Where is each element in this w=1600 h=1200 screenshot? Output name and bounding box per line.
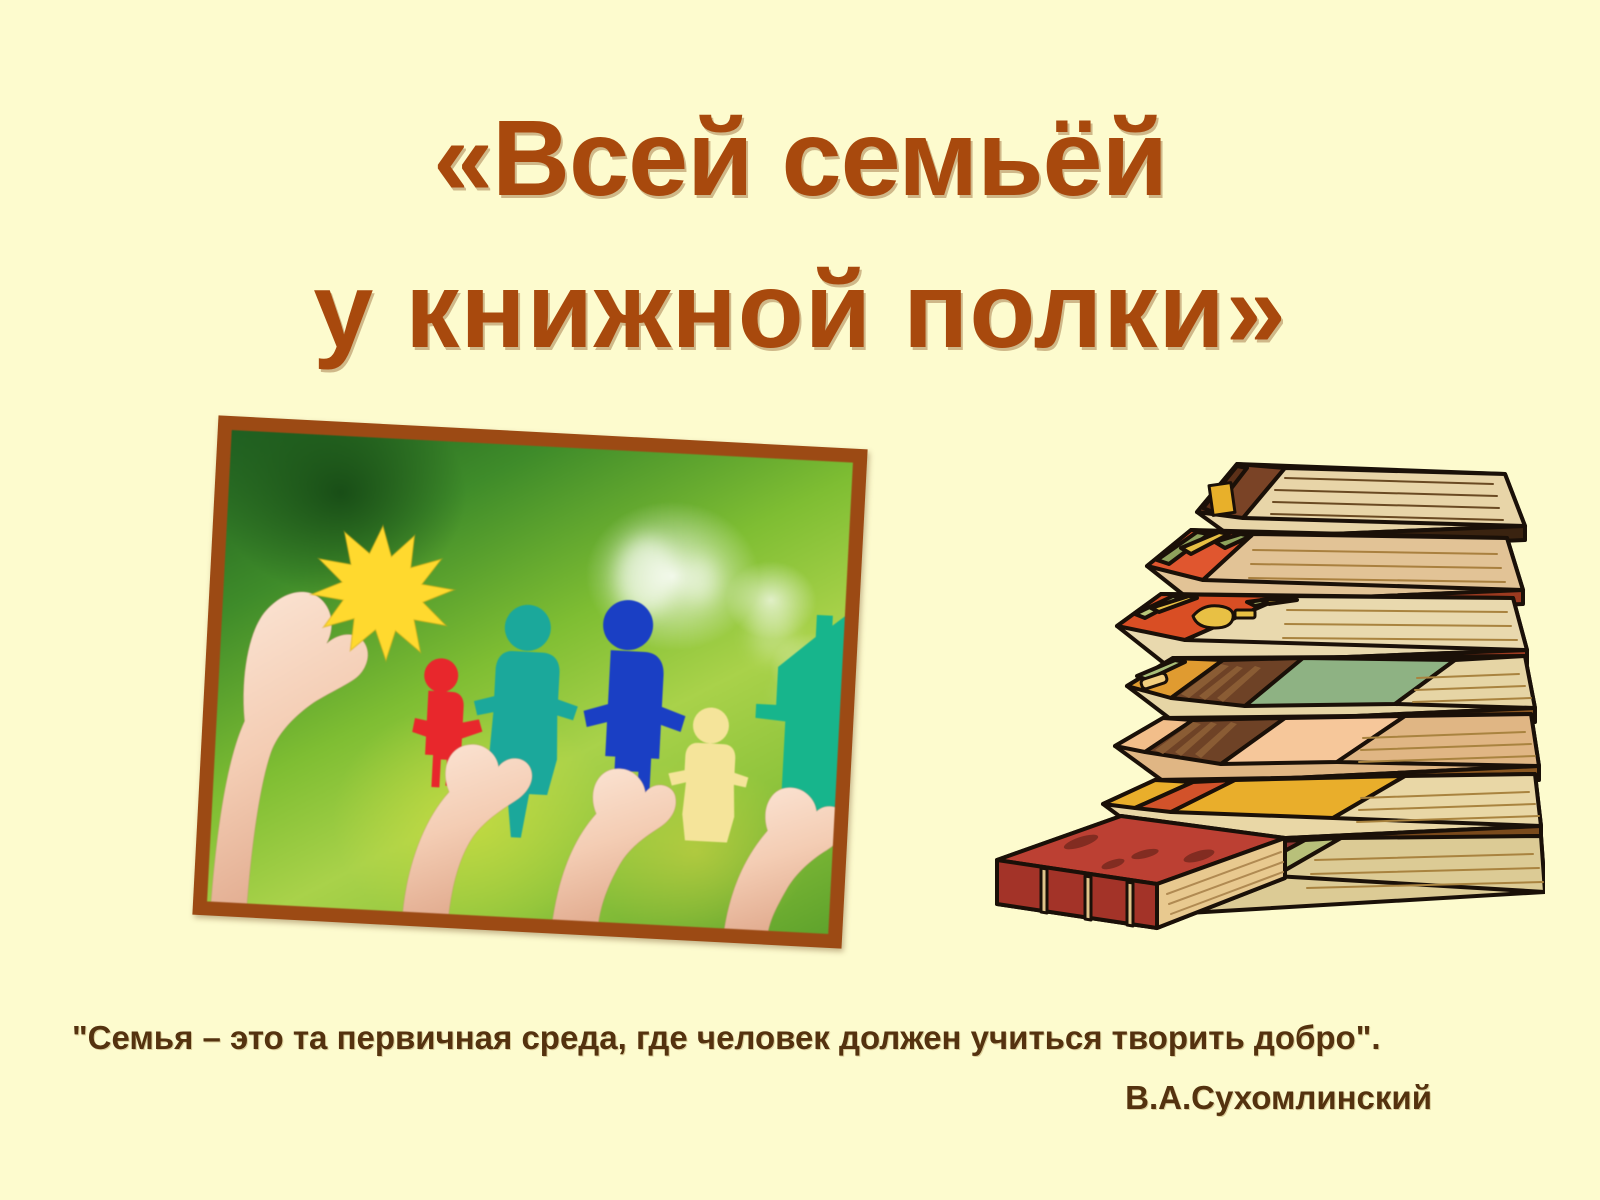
page-title: «Всей семьёй у книжной полки» [0, 104, 1600, 364]
hand-holding-sun [211, 588, 371, 909]
paper-cutouts-group [207, 430, 853, 934]
hand-holding-house [724, 784, 846, 933]
quote-text: "Семья – это та первичная среда, где чел… [72, 1018, 1528, 1058]
title-line-2: у книжной полки» [0, 256, 1600, 364]
books-svg [985, 408, 1545, 1008]
book-stack-illustration [985, 408, 1545, 1008]
title-line-1: «Всей семьёй [0, 104, 1600, 212]
quote-author: В.А.Сухомлинский [72, 1078, 1528, 1118]
slide-root: «Всей семьёй у книжной полки» [0, 0, 1600, 1200]
family-photo [192, 415, 867, 948]
quote-section: "Семья – это та первичная среда, где чел… [0, 1018, 1600, 1119]
photo-image [207, 430, 853, 934]
hand-holding-father [553, 766, 678, 926]
